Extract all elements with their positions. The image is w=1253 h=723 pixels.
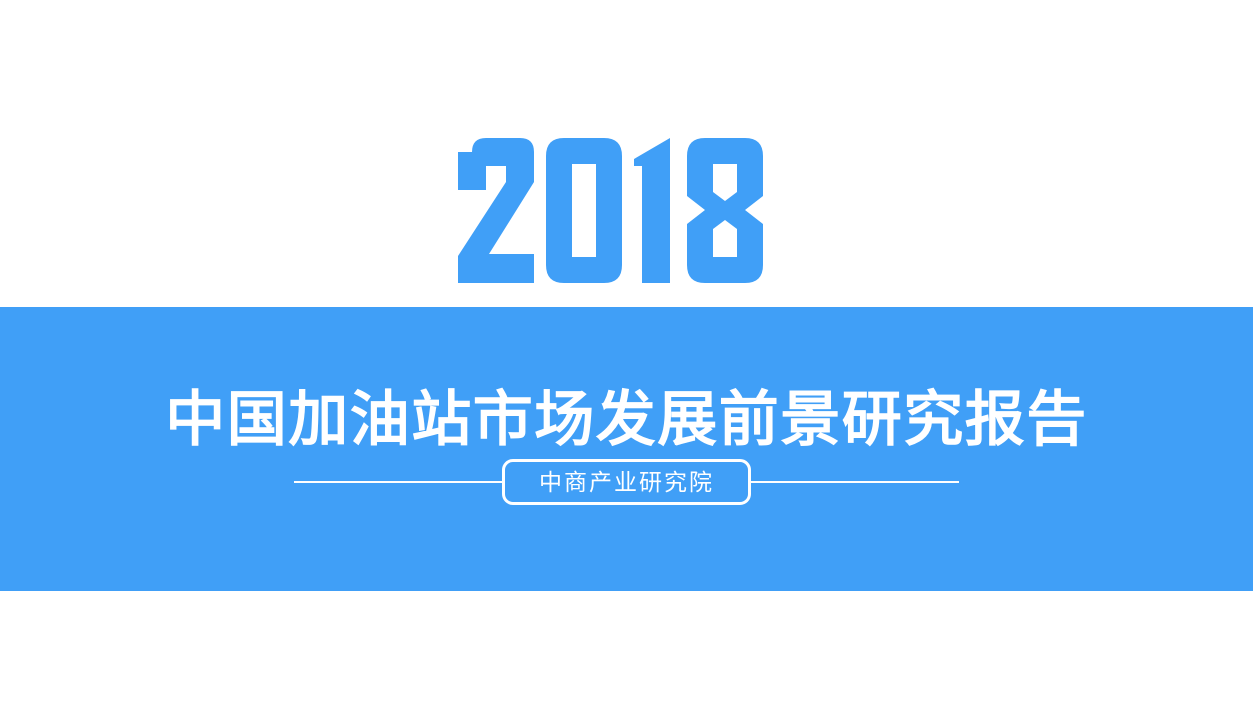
year-2018-glyphs — [458, 127, 795, 294]
left-divider-rule — [294, 481, 502, 483]
year-heading — [0, 126, 1253, 294]
right-divider-rule — [751, 481, 959, 483]
publisher-name: 中商产业研究院 — [539, 462, 714, 502]
report-cover-slide: 中国加油站市场发展前景研究报告 中商产业研究院 — [0, 0, 1253, 723]
subtitle-row: 中商产业研究院 — [0, 458, 1253, 506]
page-title: 中国加油站市场发展前景研究报告 — [0, 381, 1253, 459]
publisher-badge: 中商产业研究院 — [502, 459, 751, 505]
